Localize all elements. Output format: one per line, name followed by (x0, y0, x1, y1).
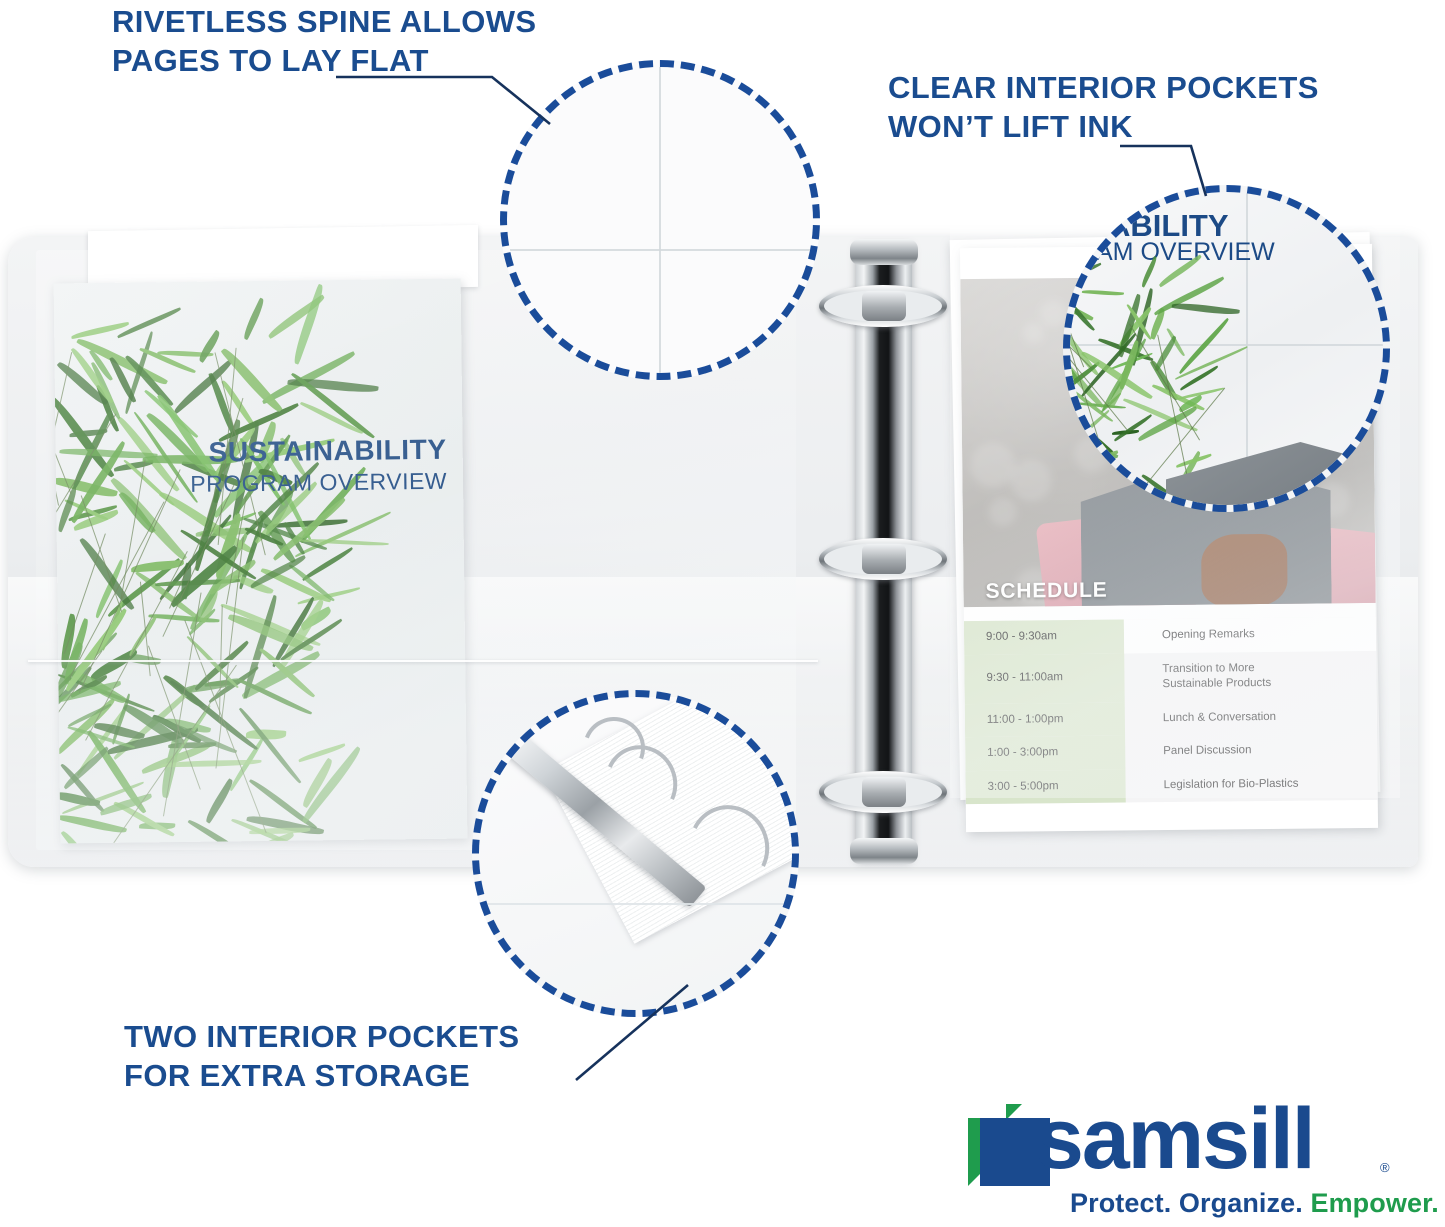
leader-path-clear-pockets (1120, 146, 1206, 196)
samsill-wordmark: samsill (1036, 1096, 1314, 1182)
tagline-green: Empower. (1310, 1188, 1438, 1218)
registered-mark: ® (1380, 1160, 1390, 1175)
leader-path-lay-flat (336, 77, 550, 124)
callout-two-pockets: TWO INTERIOR POCKETS FOR EXTRA STORAGE (124, 1017, 520, 1095)
samsill-tagline: Protect. Organize. Empower. (1070, 1188, 1439, 1219)
leader-path-two-pockets (576, 985, 688, 1080)
callout-clear-pockets: CLEAR INTERIOR POCKETS WON’T LIFT INK (888, 68, 1319, 146)
product-feature-graphic: SUSTAINABILITY PROGRAM OVERVIEW SCHEDULE… (0, 0, 1445, 1227)
tagline-blue: Protect. Organize. (1070, 1188, 1303, 1218)
samsill-logo: samsill ® Protect. Organize. Empower. (962, 1100, 1402, 1218)
callout-rivetless-spine: RIVETLESS SPINE ALLOWS PAGES TO LAY FLAT (112, 2, 536, 80)
